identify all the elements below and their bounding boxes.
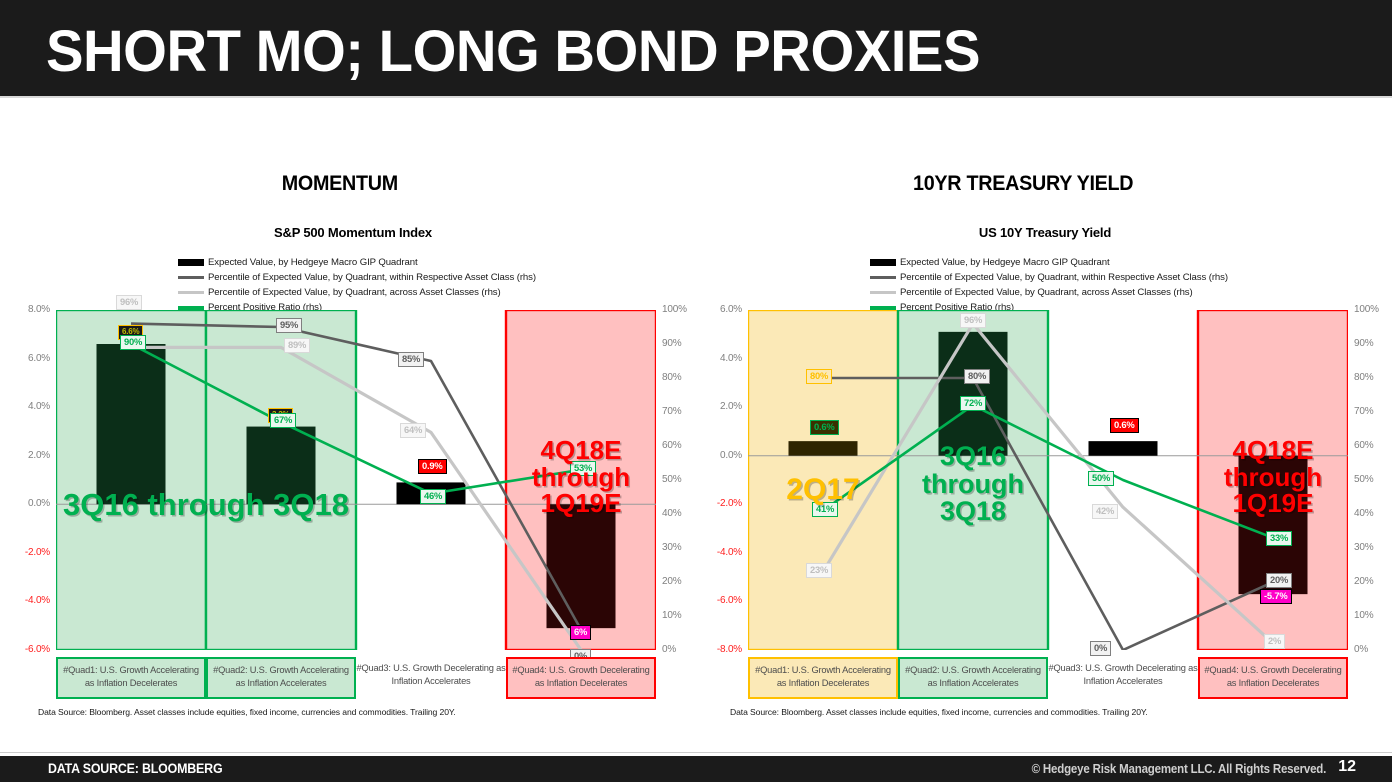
y-axis-tick-left: 2.0% xyxy=(8,450,50,461)
y-axis-tick-left: -2.0% xyxy=(700,498,742,509)
legend-item-within-asset-class: Percentile of Expected Value, by Quadran… xyxy=(870,270,1228,285)
y-axis-tick-right: 20% xyxy=(662,576,681,587)
y-axis-tick-right: 0% xyxy=(1354,644,1368,655)
chart-title-treasury-yield: US 10Y Treasury Yield xyxy=(700,225,1390,240)
data-label: 0.9% xyxy=(418,459,447,474)
y-axis-tick-right: 80% xyxy=(662,372,681,383)
y-axis-tick-right: 70% xyxy=(1354,406,1373,417)
legend-swatch-icon xyxy=(178,259,204,266)
legend-item-across-asset-classes: Percentile of Expected Value, by Quadran… xyxy=(178,285,536,300)
data-label: 46% xyxy=(420,489,446,504)
y-axis-tick-left: 8.0% xyxy=(8,304,50,315)
y-axis-tick-right: 0% xyxy=(662,644,676,655)
y-axis-tick-left: 4.0% xyxy=(700,353,742,364)
footer-copyright: © Hedgeye Risk Management LLC. All Right… xyxy=(1031,762,1326,776)
legend-swatch-icon xyxy=(178,306,204,310)
y-axis-tick-right: 40% xyxy=(662,508,681,519)
quadrant-caption-q1: #Quad1: U.S. Growth Accelerating as Infl… xyxy=(748,657,898,699)
legend-swatch-icon xyxy=(870,291,896,294)
quadrant-captions-treasury-yield: #Quad1: U.S. Growth Accelerating as Infl… xyxy=(748,657,1348,699)
quadrant-caption-q4: #Quad4: U.S. Growth Decelerating as Infl… xyxy=(506,657,656,699)
data-label: 85% xyxy=(398,352,424,367)
legend-label: Percentile of Expected Value, by Quadran… xyxy=(208,287,501,298)
page-title: SHORT MO; LONG BOND PROXIES xyxy=(46,18,980,85)
data-label: 67% xyxy=(270,413,296,428)
chart-title-momentum: S&P 500 Momentum Index xyxy=(8,225,698,240)
footer-data-source: DATA SOURCE: BLOOMBERG xyxy=(48,761,222,776)
data-label: 0.6% xyxy=(810,420,839,435)
chart-svg-momentum xyxy=(56,310,656,650)
data-label: 80% xyxy=(964,369,990,384)
chart-svg-treasury-yield xyxy=(748,310,1348,650)
section-heading-momentum: MOMENTUM xyxy=(282,172,398,196)
legend-swatch-icon xyxy=(870,306,896,310)
legend-item-across-asset-classes: Percentile of Expected Value, by Quadran… xyxy=(870,285,1228,300)
footer-bar: DATA SOURCE: BLOOMBERG © Hedgeye Risk Ma… xyxy=(0,756,1392,782)
data-label: 6% xyxy=(570,625,591,640)
footer-page-number: 12 xyxy=(1338,758,1356,776)
y-axis-tick-right: 50% xyxy=(1354,474,1373,485)
data-label: 0.6% xyxy=(1110,418,1139,433)
quadrant-caption-q4: #Quad4: U.S. Growth Decelerating as Infl… xyxy=(1198,657,1348,699)
data-label: 95% xyxy=(276,318,302,333)
y-axis-tick-right: 60% xyxy=(662,440,681,451)
y-axis-tick-right: 90% xyxy=(1354,338,1373,349)
y-axis-tick-left: 0.0% xyxy=(700,450,742,461)
legend-swatch-icon xyxy=(178,291,204,294)
legend-swatch-icon xyxy=(178,276,204,279)
y-axis-tick-left: 4.0% xyxy=(8,401,50,412)
data-label: 23% xyxy=(806,563,832,578)
y-axis-tick-right: 10% xyxy=(662,610,681,621)
title-bar: SHORT MO; LONG BOND PROXIES xyxy=(0,0,1392,96)
data-label: 96% xyxy=(960,313,986,328)
y-axis-tick-right: 30% xyxy=(662,542,681,553)
data-label: 80% xyxy=(806,369,832,384)
y-axis-tick-left: -2.0% xyxy=(8,547,50,558)
data-label: 41% xyxy=(812,502,838,517)
plot-area-momentum xyxy=(56,310,656,650)
legend-item-expected-value: Expected Value, by Hedgeye Macro GIP Qua… xyxy=(178,255,536,270)
data-label: 53% xyxy=(570,461,596,476)
legend-label: Percentile of Expected Value, by Quadran… xyxy=(900,272,1228,283)
data-label: 96% xyxy=(116,295,142,310)
source-note-treasury-yield: Data Source: Bloomberg. Asset classes in… xyxy=(730,707,1148,717)
y-axis-tick-left: -6.0% xyxy=(8,644,50,655)
legend-label: Expected Value, by Hedgeye Macro GIP Qua… xyxy=(208,257,418,268)
source-note-momentum: Data Source: Bloomberg. Asset classes in… xyxy=(38,707,456,717)
legend-swatch-icon xyxy=(870,276,896,279)
y-axis-tick-right: 90% xyxy=(662,338,681,349)
data-label: 89% xyxy=(284,338,310,353)
quadrant-caption-q3: #Quad3: U.S. Growth Decelerating as Infl… xyxy=(1048,657,1198,699)
quadrant-captions-momentum: #Quad1: U.S. Growth Accelerating as Infl… xyxy=(56,657,656,699)
y-axis-tick-left: 0.0% xyxy=(8,498,50,509)
footer-divider xyxy=(0,752,1392,753)
data-label: 42% xyxy=(1092,504,1118,519)
legend-item-within-asset-class: Percentile of Expected Value, by Quadran… xyxy=(178,270,536,285)
legend-label: Expected Value, by Hedgeye Macro GIP Qua… xyxy=(900,257,1110,268)
y-axis-tick-left: 6.0% xyxy=(8,353,50,364)
section-heading-treasury-yield: 10YR TREASURY YIELD xyxy=(913,172,1133,196)
y-axis-tick-right: 100% xyxy=(662,304,687,315)
y-axis-tick-right: 20% xyxy=(1354,576,1373,587)
chart-panel-momentum: S&P 500 Momentum Index Expected Value, b… xyxy=(8,225,698,720)
data-label: 2% xyxy=(1264,634,1285,649)
data-label: 64% xyxy=(400,423,426,438)
plot-area-treasury-yield xyxy=(748,310,1348,650)
chart-legend-treasury-yield: Expected Value, by Hedgeye Macro GIP Qua… xyxy=(870,255,1228,315)
data-label: 20% xyxy=(1266,573,1292,588)
y-axis-tick-right: 80% xyxy=(1354,372,1373,383)
y-axis-tick-left: -4.0% xyxy=(8,595,50,606)
quadrant-caption-q3: #Quad3: U.S. Growth Decelerating as Infl… xyxy=(356,657,506,699)
legend-label: Percentile of Expected Value, by Quadran… xyxy=(900,287,1193,298)
data-label: 90% xyxy=(120,335,146,350)
y-axis-tick-right: 40% xyxy=(1354,508,1373,519)
y-axis-tick-left: 2.0% xyxy=(700,401,742,412)
y-axis-tick-left: -8.0% xyxy=(700,644,742,655)
chart-legend-momentum: Expected Value, by Hedgeye Macro GIP Qua… xyxy=(178,255,536,315)
chart-panel-treasury-yield: US 10Y Treasury Yield Expected Value, by… xyxy=(700,225,1390,720)
y-axis-tick-right: 10% xyxy=(1354,610,1373,621)
quadrant-caption-q2: #Quad2: U.S. Growth Accelerating as Infl… xyxy=(898,657,1048,699)
legend-swatch-icon xyxy=(870,259,896,266)
legend-label: Percentile of Expected Value, by Quadran… xyxy=(208,272,536,283)
y-axis-tick-right: 30% xyxy=(1354,542,1373,553)
quadrant-caption-q2: #Quad2: U.S. Growth Accelerating as Infl… xyxy=(206,657,356,699)
quadrant-caption-q1: #Quad1: U.S. Growth Accelerating as Infl… xyxy=(56,657,206,699)
y-axis-tick-right: 70% xyxy=(662,406,681,417)
data-label: 33% xyxy=(1266,531,1292,546)
data-label: 72% xyxy=(960,396,986,411)
y-axis-tick-right: 50% xyxy=(662,474,681,485)
data-label: -5.7% xyxy=(1260,589,1292,604)
legend-item-expected-value: Expected Value, by Hedgeye Macro GIP Qua… xyxy=(870,255,1228,270)
y-axis-tick-left: -4.0% xyxy=(700,547,742,558)
y-axis-tick-right: 100% xyxy=(1354,304,1379,315)
y-axis-tick-left: 6.0% xyxy=(700,304,742,315)
data-label: 50% xyxy=(1088,471,1114,486)
data-label: 0% xyxy=(1090,641,1111,656)
header-divider xyxy=(0,96,1392,98)
y-axis-tick-right: 60% xyxy=(1354,440,1373,451)
y-axis-tick-left: -6.0% xyxy=(700,595,742,606)
